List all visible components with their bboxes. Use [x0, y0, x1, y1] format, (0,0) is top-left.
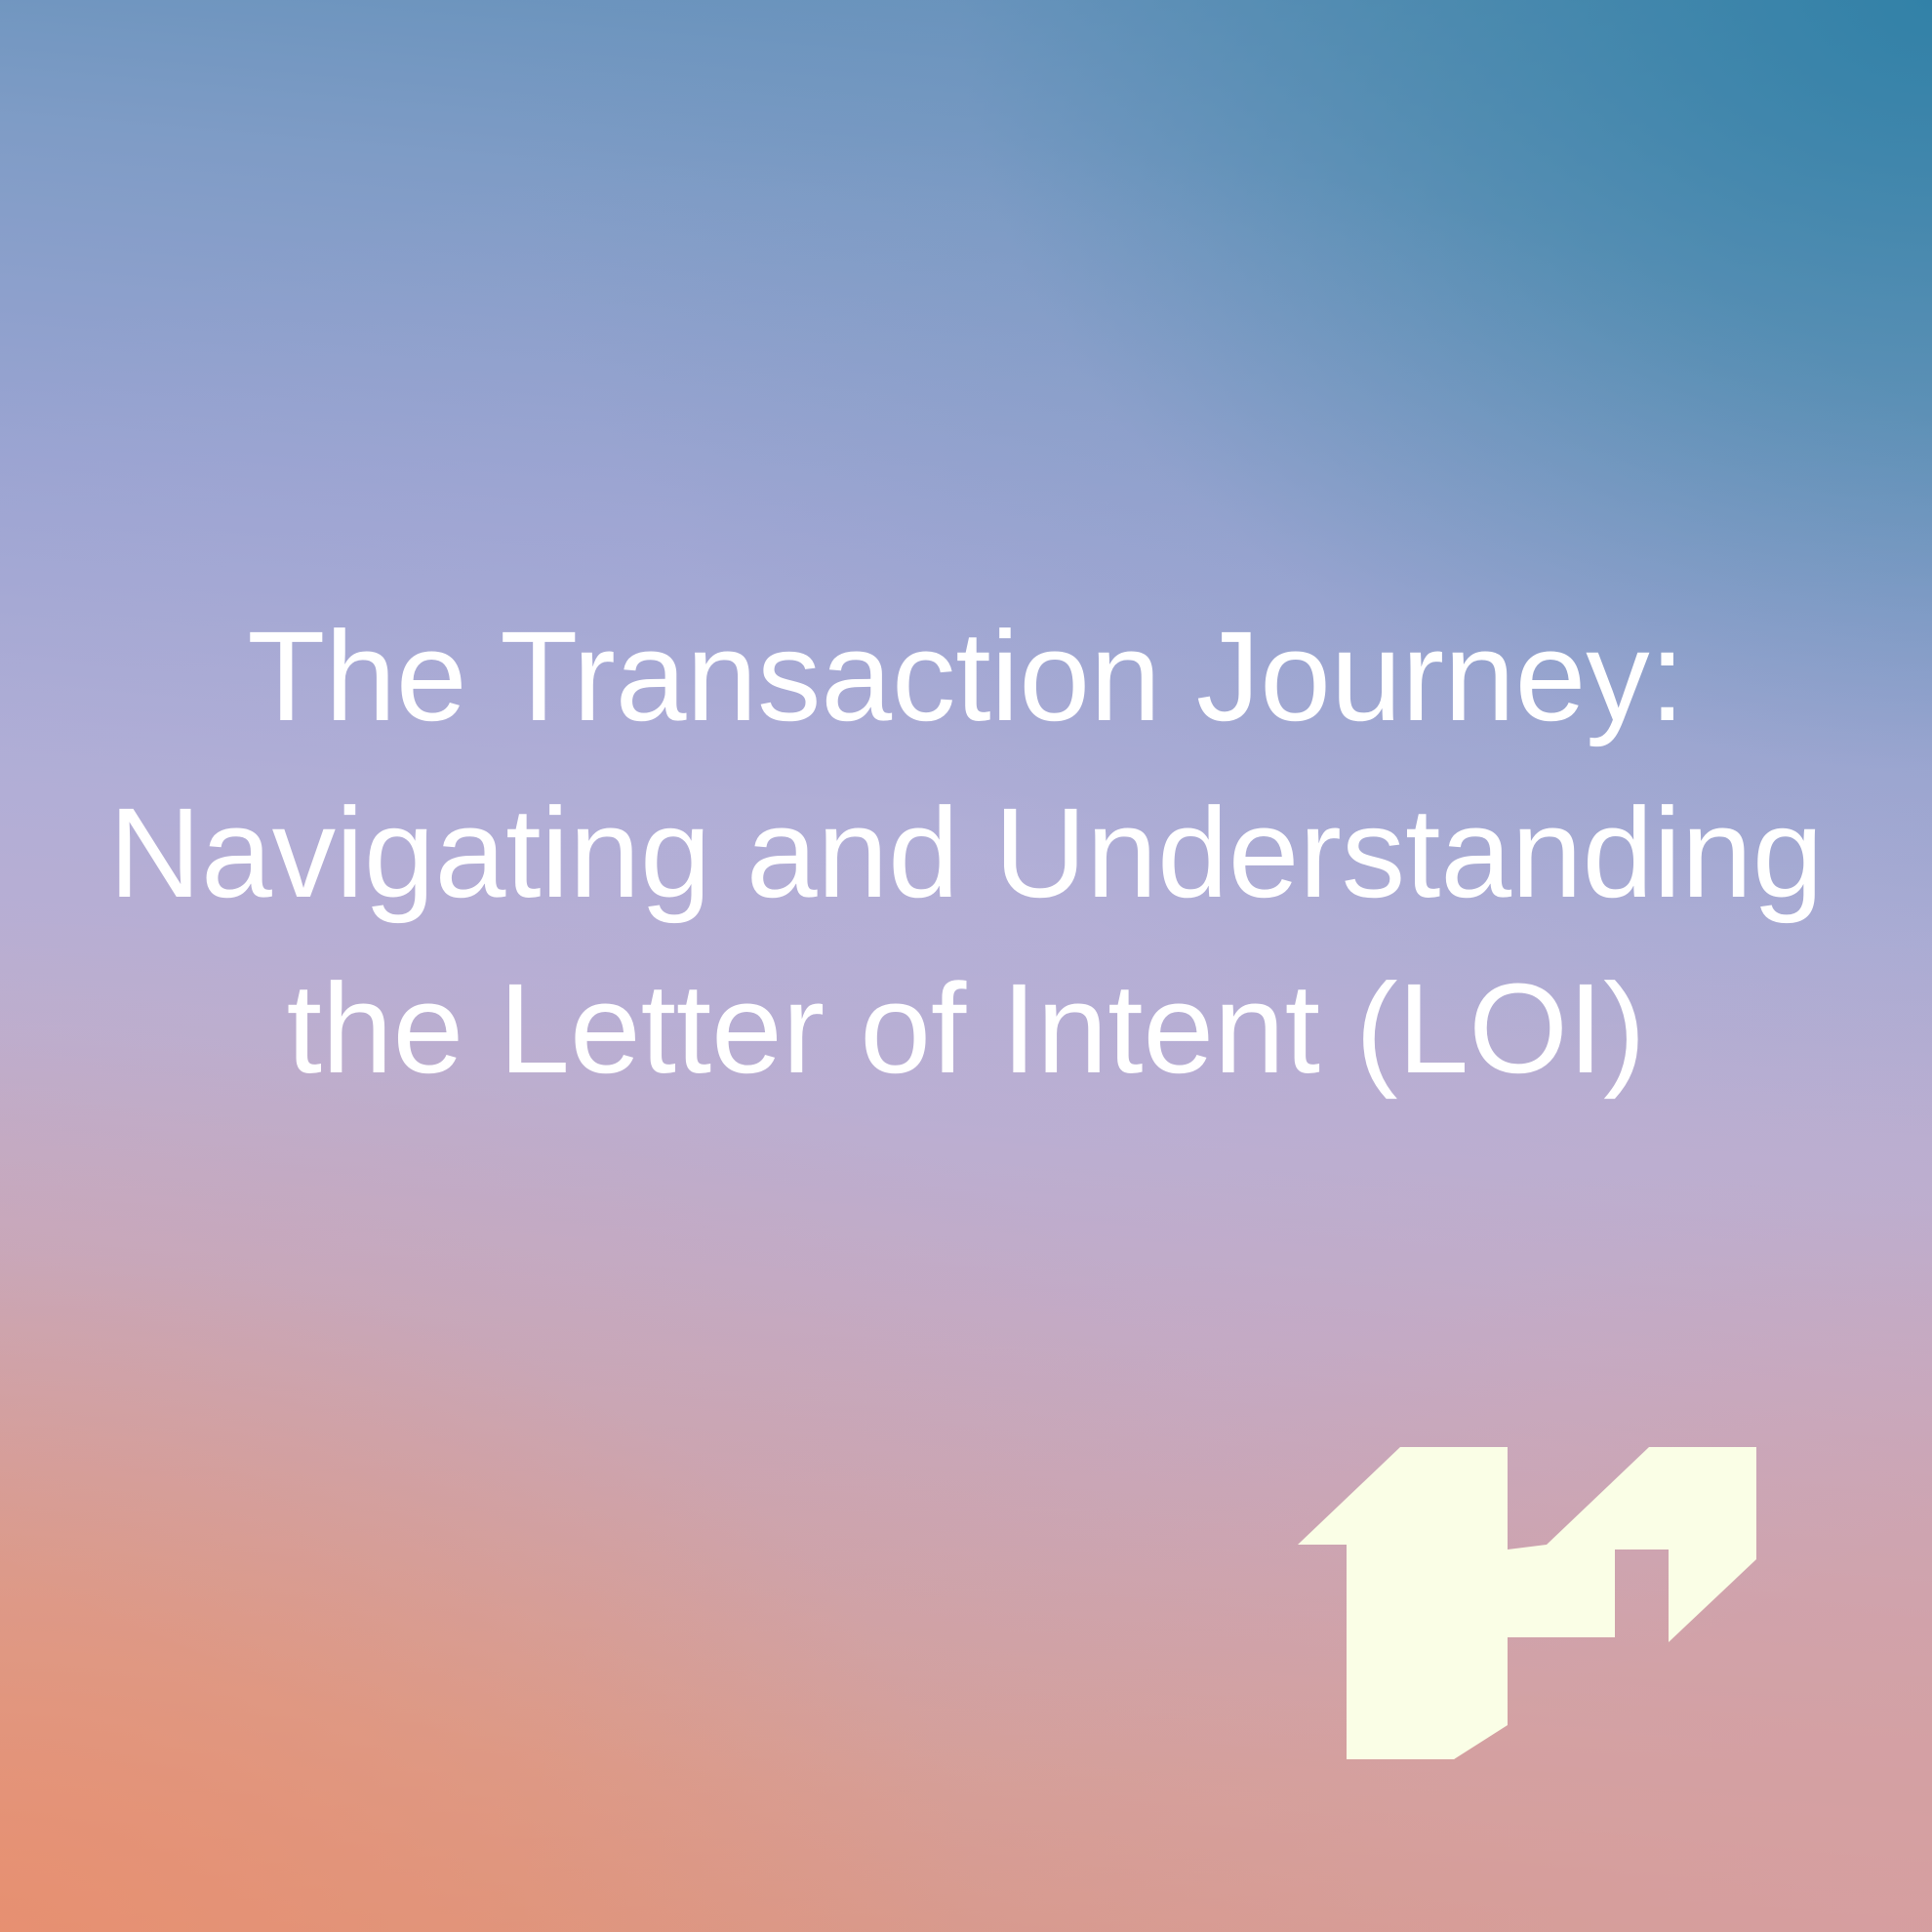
- social-card: The Transaction Journey: Navigating and …: [0, 0, 1932, 1932]
- title-line-1: The Transaction Journey:: [247, 588, 1684, 765]
- logo-shape-left: [1298, 1447, 1508, 1759]
- brand-logo: [1298, 1447, 1756, 1759]
- title-line-2: Navigating and Understanding: [109, 765, 1824, 942]
- title-line-3: the Letter of Intent (LOI): [287, 941, 1646, 1117]
